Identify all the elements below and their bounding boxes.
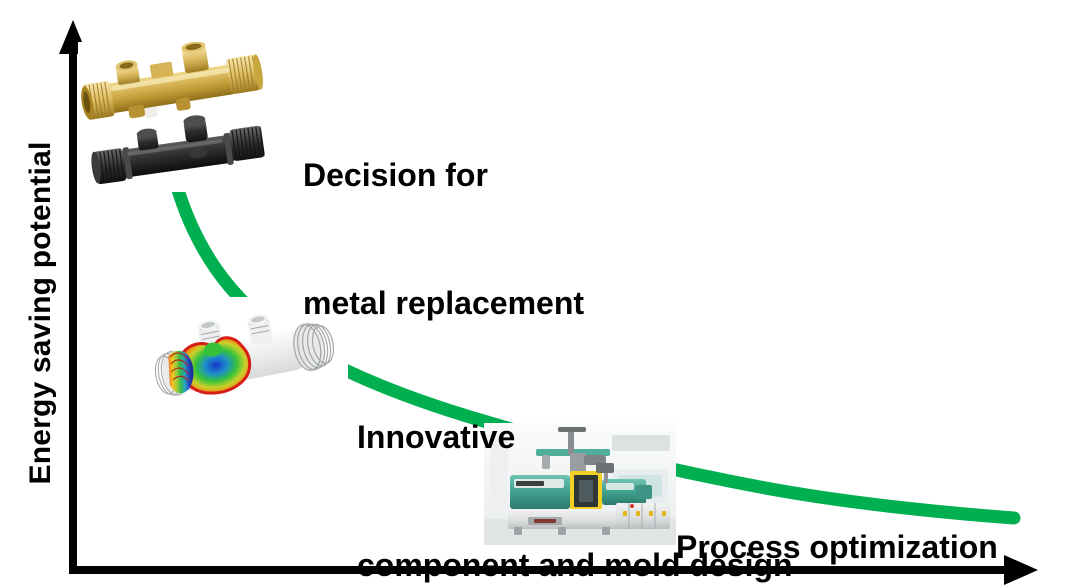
callout-process-optimization: Process optimization [676, 440, 998, 588]
diagram-canvas: Energy saving potential Decision for met… [0, 0, 1075, 588]
brass-and-plastic-manifold-photo [78, 42, 293, 192]
y-axis-label-text: Energy saving potential [24, 142, 58, 485]
x-axis-arrowhead [1004, 555, 1038, 585]
y-axis-label: Energy saving potential [21, 98, 61, 528]
callout-process-line-1: Process optimization [676, 526, 998, 569]
manifold-illustration [78, 42, 293, 192]
callout-decision-line-1: Decision for [303, 154, 584, 197]
brass-manifold [78, 42, 266, 128]
plastic-manifold [87, 106, 266, 185]
callout-decision-line-2: metal replacement [303, 282, 584, 325]
